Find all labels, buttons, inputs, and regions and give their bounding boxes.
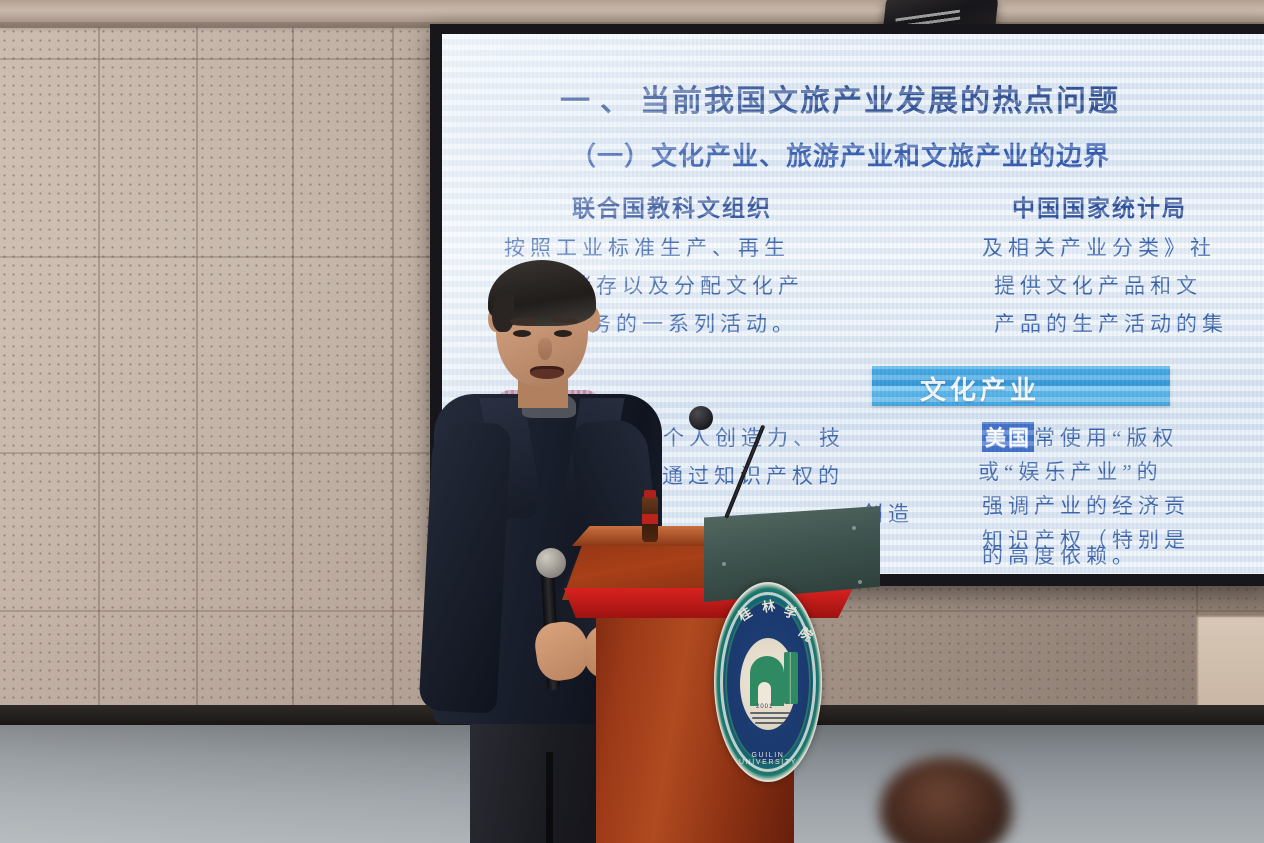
right-lower-line-5: 的高度依赖。 [982,540,1138,570]
slide-subheading: （一）文化产业、旅游产业和文旅产业的边界 [570,136,1110,173]
banner-label: 文化产业 [920,370,1040,407]
eye-left [513,330,531,337]
nose [538,338,552,360]
lectern: 2001 桂 林 学 院 GUILIN UNIVERSITY [556,480,886,843]
university-emblem: 2001 桂 林 学 院 GUILIN UNIVERSITY [714,582,822,782]
left-column-source: 联合国教科文组织 [572,189,772,223]
elephant-hill-icon [750,656,784,706]
presenter-arm-left [418,420,511,714]
right-column-source: 中国国家统计局 [1012,189,1187,223]
culture-industry-banner: 文化产业 [872,366,1170,406]
slide-heading-text: 当前我国文旅产业发展的热点问题 [640,85,1120,118]
right-lower-text-1: 常使用“版权 [1034,426,1178,450]
presenter-hair [488,260,596,326]
open-book-icon [784,652,798,704]
lectern-control-panel[interactable] [704,506,880,602]
water-lines-icon [748,710,792,728]
presentation-photo: 一、当前我国文旅产业发展的热点问题 （一）文化产业、旅游产业和文旅产业的边界 联… [0,0,1264,843]
bottle-label [642,514,658,524]
right-lower-line-3: 强调产业的经济贡 [982,490,1190,520]
mouth [530,366,564,379]
slide-heading: 一、当前我国文旅产业发展的热点问题 [560,76,1120,120]
right-lower-line-1: 美国常使用“版权 [982,422,1178,452]
right-column-line-2: 提供文化产品和文 [994,270,1202,300]
right-column-line-3: 产品的生产活动的集 [994,308,1228,338]
right-column-line-1: 及相关产业分类》社 [982,232,1216,262]
trouser-seam [546,752,553,843]
emblem-year: 2001 [756,704,773,710]
podium-microphone-icon [689,406,713,430]
right-lower-keyword: 美国 [982,422,1034,452]
eye-right [554,330,572,337]
bottle-cap [644,490,656,498]
right-lower-line-2: 或“娱乐产业”的 [978,456,1163,486]
slide-heading-number: 一、 [560,85,640,118]
emblem-en-name: GUILIN UNIVERSITY [728,752,808,766]
wall-vent-panel [1196,615,1264,711]
